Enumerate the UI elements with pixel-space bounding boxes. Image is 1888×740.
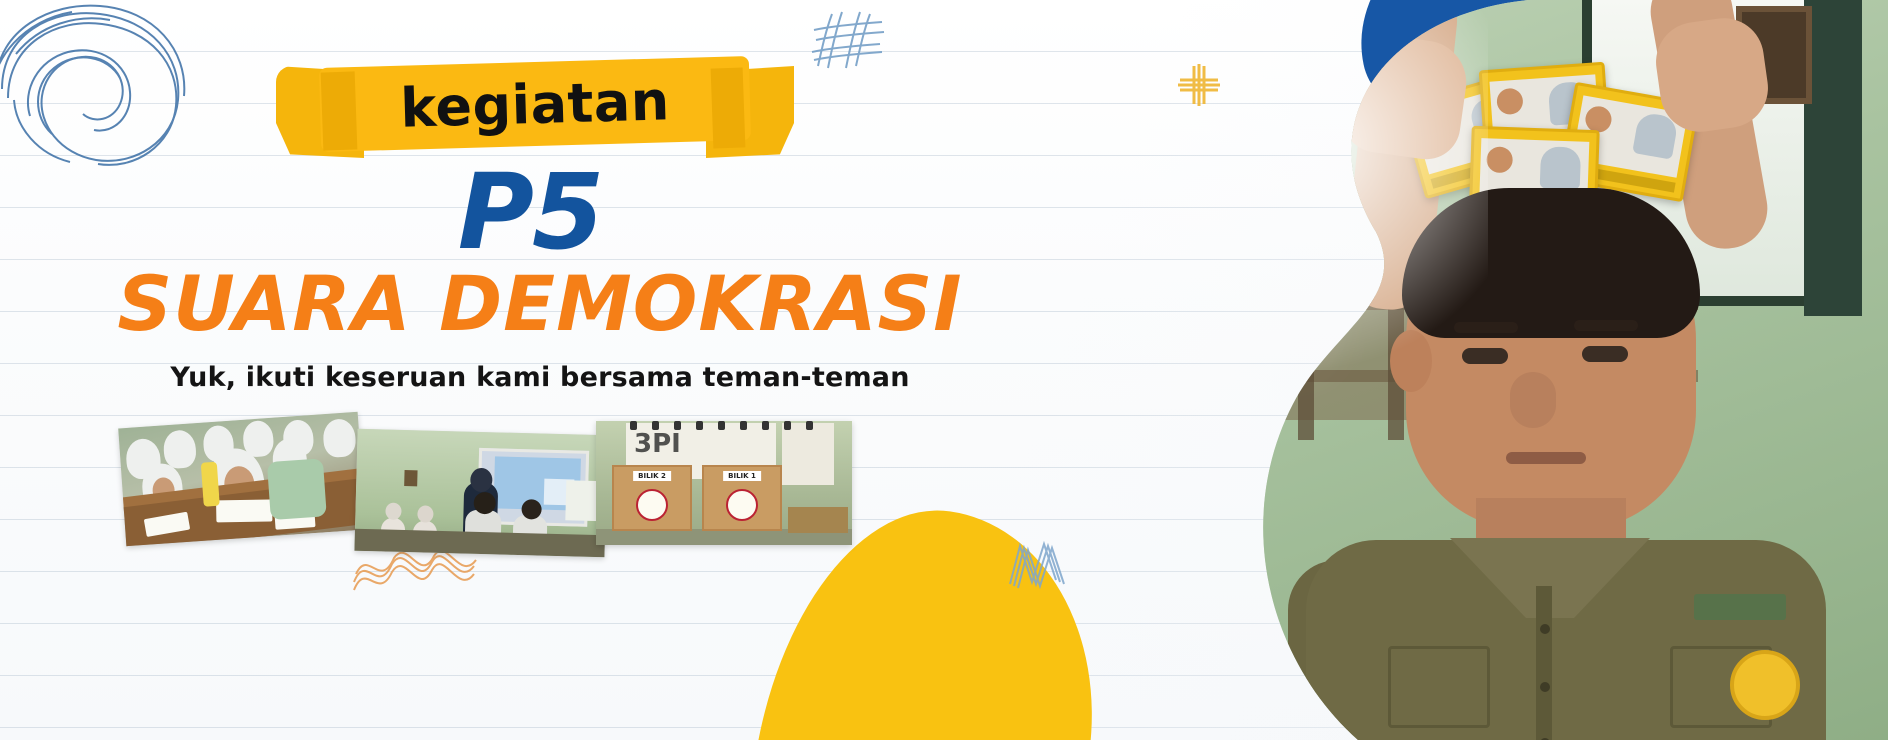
sketch-wave-icon — [348, 548, 484, 604]
banner-canvas: kegiatan P5 SUARA DEMOKRASI Yuk, ikuti k… — [0, 0, 1888, 740]
page-subtitle-suara-demokrasi: SUARA DEMOKRASI — [0, 266, 1080, 342]
nose — [1510, 372, 1556, 428]
uniform-badge — [1730, 650, 1800, 720]
curtain — [1804, 0, 1862, 316]
uniform-nametag — [1694, 594, 1786, 620]
ribbon-banner: kegiatan — [276, 62, 794, 156]
ribbon-label: kegiatan — [319, 56, 751, 152]
uniform-pocket-left — [1388, 646, 1490, 728]
voting-booth: BILIK 1 — [702, 465, 782, 531]
sketch-plus-icon — [1172, 58, 1226, 112]
photo-voting-booths: 3PI BILIK 2 BILIK 1 — [596, 421, 852, 545]
booth-label: BILIK 1 — [723, 471, 761, 481]
sketch-hash-icon — [806, 8, 896, 74]
sketch-spiral-icon — [0, 0, 202, 184]
photo-classroom-presentation — [354, 429, 607, 558]
page-title-p5: P5 — [0, 160, 1060, 264]
uniform-placket — [1536, 586, 1552, 740]
sketch-zigzag-icon — [1006, 538, 1068, 596]
eye-right — [1582, 346, 1628, 362]
eyebrow-right — [1574, 320, 1638, 331]
photo-students-studying — [118, 412, 366, 546]
mouth — [1506, 452, 1586, 464]
voting-booth: BILIK 2 — [612, 465, 692, 531]
booth-label: BILIK 2 — [633, 471, 671, 481]
tagline-text: Yuk, ikuti keseruan kami bersama teman-t… — [0, 362, 1080, 393]
